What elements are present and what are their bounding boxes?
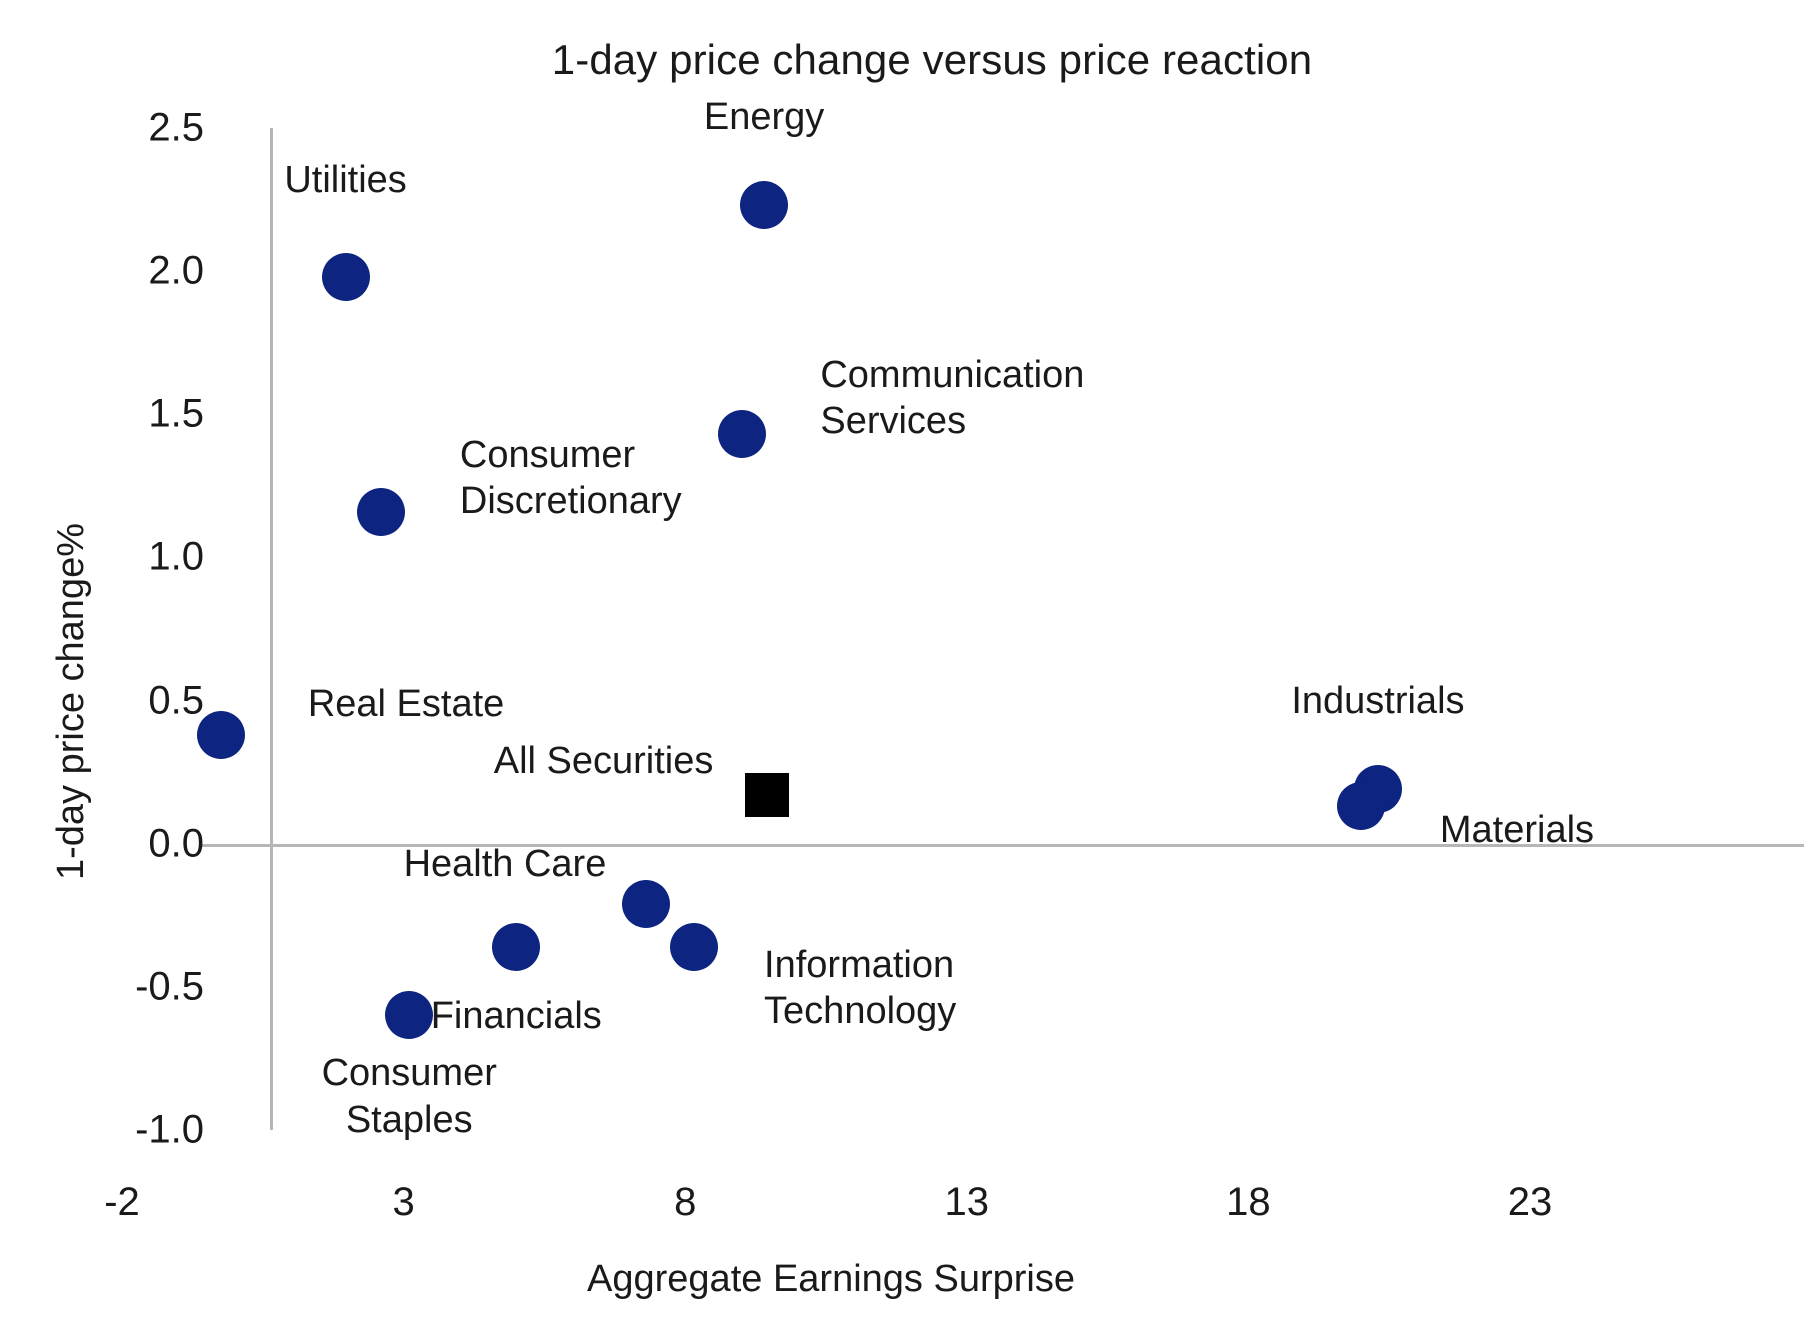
y-axis-spine [270,128,273,1130]
y-axis-tick-label: -0.5 [0,964,230,1009]
data-point-label: Financials [431,993,602,1039]
data-point-label: Real Estate [308,681,504,727]
data-point-marker[interactable] [492,923,540,971]
x-axis-tick-label: 18 [1226,1180,1271,1225]
data-point-label: All Securities [494,738,714,784]
data-point-marker[interactable] [670,923,718,971]
y-axis-tick-label: 2.0 [0,249,230,294]
x-axis-title: Aggregate Earnings Surprise [587,1258,1075,1301]
x-axis-tick-label: 23 [1508,1180,1553,1225]
x-axis-tick-label: -2 [104,1180,140,1225]
y-axis-title: 1-day price change% [50,523,93,880]
data-point-label: Industrials [1291,678,1464,724]
data-point-label: Information Technology [764,942,956,1035]
y-axis-tick-label: 2.5 [0,106,230,151]
data-point-marker[interactable] [718,410,766,458]
data-point-label: Health Care [404,841,607,887]
data-point-marker[interactable] [622,880,670,928]
data-point-marker[interactable] [357,488,405,536]
data-point-label: Energy [704,94,824,140]
data-point-label: Utilities [284,157,406,203]
data-point-marker[interactable] [740,181,788,229]
data-point-label: Communication Services [820,352,1084,445]
x-axis-tick-label: 3 [392,1180,414,1225]
plot-area: -1.0-0.50.00.51.01.52.02.5-2381318231-da… [0,0,1804,1336]
chart-figure: 1-day price change versus price reaction… [0,0,1804,1336]
data-point-label: Consumer Discretionary [460,432,682,525]
y-axis-tick-label: 0.0 [0,821,230,866]
data-point-label: Consumer Staples [322,1050,497,1143]
y-axis-tick-label: 0.5 [0,678,230,723]
data-point-marker[interactable] [1337,782,1385,830]
y-axis-tick-label: 1.0 [0,535,230,580]
data-point-marker[interactable] [385,991,433,1039]
y-axis-tick-label: 1.5 [0,392,230,437]
data-point-label: Materials [1440,807,1594,853]
x-axis-tick-label: 8 [674,1180,696,1225]
data-point-marker[interactable] [322,253,370,301]
y-axis-tick-label: -1.0 [0,1108,230,1153]
x-axis-tick-label: 13 [945,1180,990,1225]
data-point-marker[interactable] [745,773,789,817]
data-point-marker[interactable] [197,711,245,759]
